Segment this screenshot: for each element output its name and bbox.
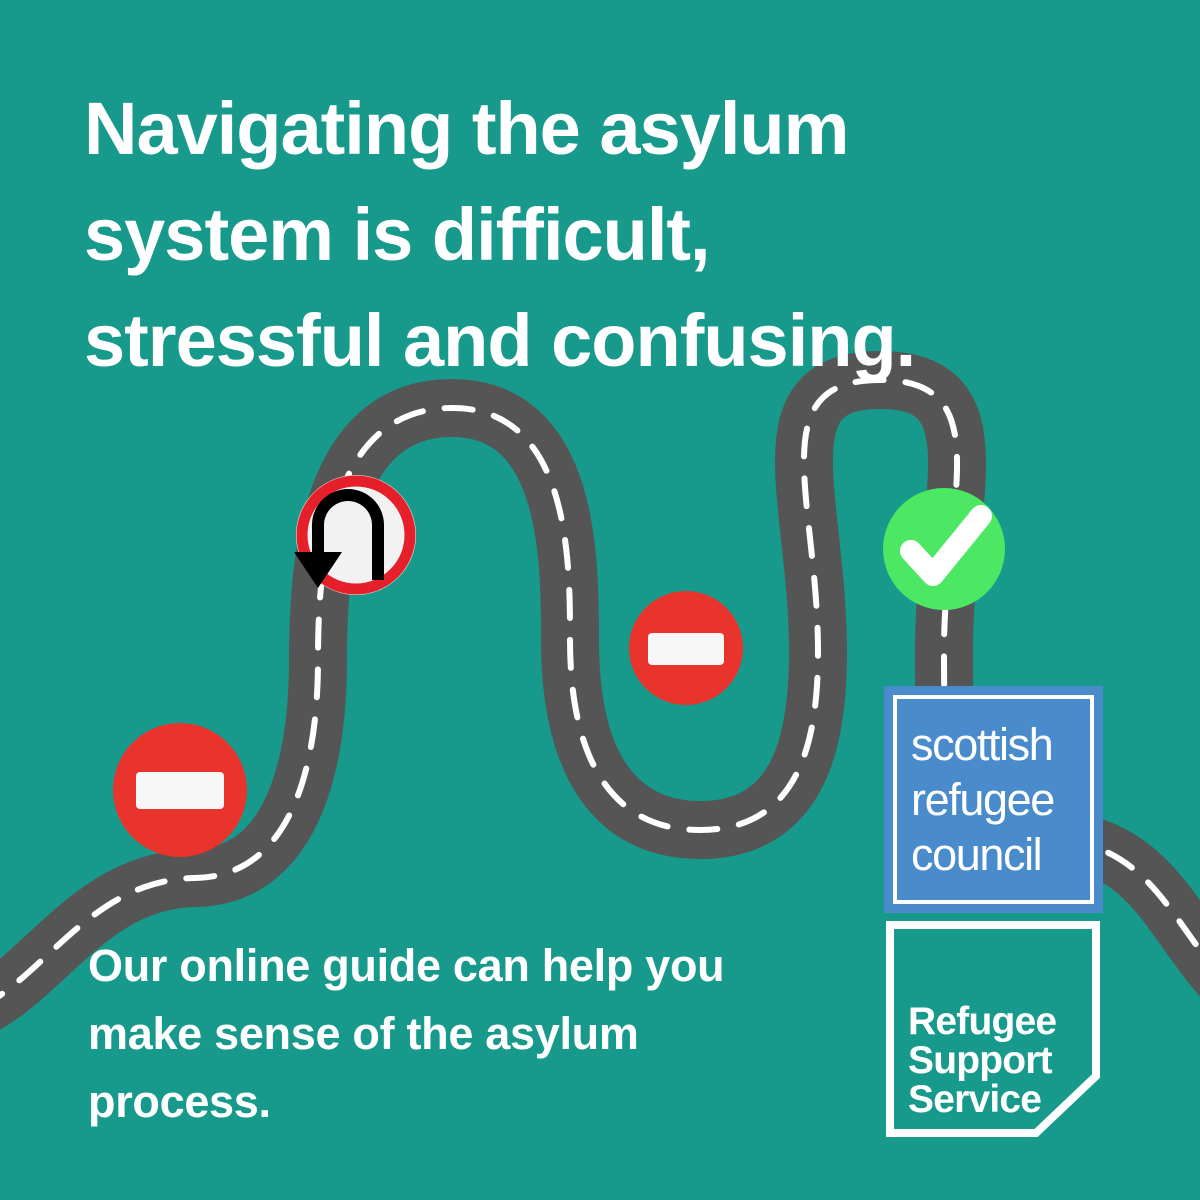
refugee-support-service-logo: Refugee Support Service (886, 921, 1100, 1137)
src-line-2: refugee (911, 772, 1090, 827)
src-line-1: scottish (911, 717, 1090, 772)
no-entry-sign-right (629, 591, 743, 705)
rss-wordmark: Refugee Support Service (908, 1002, 1056, 1119)
body-copy: Our online guide can help you make sense… (88, 932, 808, 1136)
src-inner-border: scottish refugee council (893, 695, 1094, 904)
u-turn-sign (294, 475, 416, 595)
scottish-refugee-council-logo: scottish refugee council (884, 686, 1103, 913)
poster-canvas: Navigating the asylum system is difficul… (0, 0, 1200, 1200)
no-entry-sign-left (113, 723, 247, 857)
green-check-badge (883, 488, 1005, 610)
page-title: Navigating the asylum system is difficul… (84, 76, 1044, 394)
src-line-3: council (911, 827, 1090, 882)
